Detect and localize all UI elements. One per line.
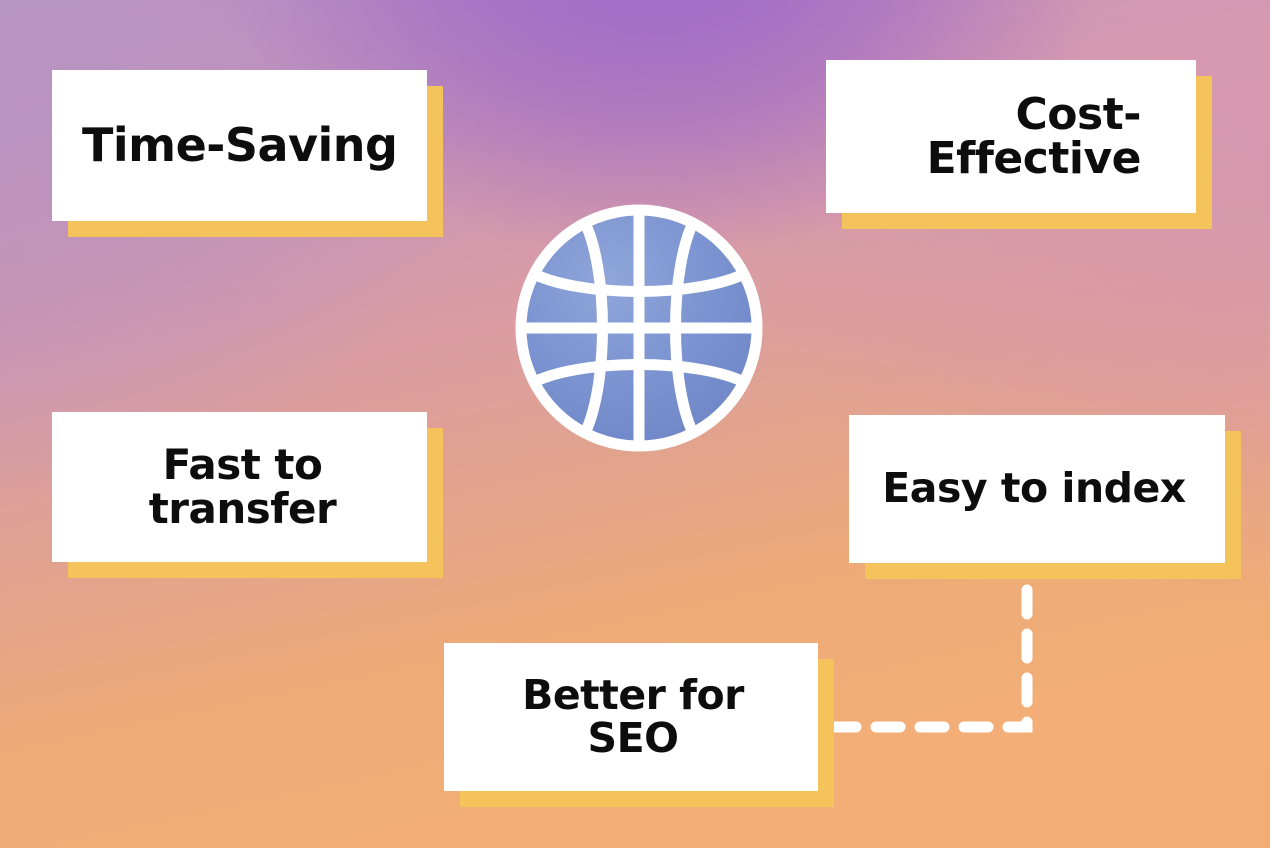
card-label-better-seo: Better for SEO: [444, 674, 818, 759]
card-label-fast-transfer: Fast to transfer: [52, 443, 427, 530]
globe-icon: [508, 197, 770, 459]
infographic-canvas: Time-Saving Cost- Effective Fast to tran…: [0, 0, 1270, 848]
card-better-seo[interactable]: Better for SEO: [444, 643, 818, 791]
card-time-saving[interactable]: Time-Saving: [52, 70, 427, 221]
card-label-easy-index: Easy to index: [849, 468, 1225, 510]
card-cost-effective[interactable]: Cost- Effective: [826, 60, 1196, 213]
card-easy-index[interactable]: Easy to index: [849, 415, 1225, 563]
card-fast-transfer[interactable]: Fast to transfer: [52, 412, 427, 562]
card-label-time-saving: Time-Saving: [52, 122, 427, 169]
card-label-cost-effective: Cost- Effective: [826, 93, 1196, 181]
